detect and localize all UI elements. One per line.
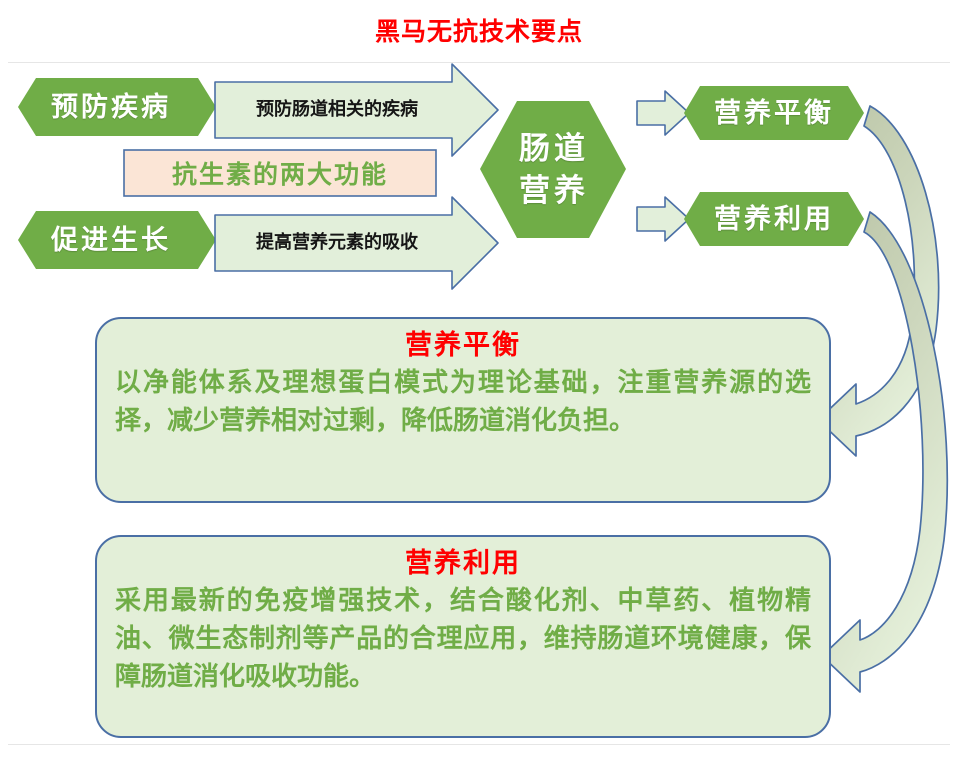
hexagon-nutrition-utilization[interactable] — [684, 192, 864, 246]
slide-canvas: 黑马无抗技术要点 — [0, 0, 958, 757]
panel-nutrition-balance-title: 营养平衡 — [115, 329, 811, 363]
small-arrow-to-nutrition-balance[interactable] — [637, 91, 689, 135]
hexagon-nutrition-balance[interactable] — [684, 86, 864, 140]
hexagon-intestinal-nutrition[interactable] — [480, 101, 626, 238]
panel-nutrition-utilization-title: 营养利用 — [115, 547, 811, 581]
hexagon-promote-growth[interactable] — [18, 211, 216, 269]
small-arrow-to-nutrition-utilization[interactable] — [637, 197, 689, 241]
pink-box-two-functions[interactable] — [124, 150, 436, 196]
panel-nutrition-utilization[interactable]: 营养利用 采用最新的免疫增强技术，结合酸化剂、中草药、植物精油、微生态制剂等产品… — [95, 535, 831, 738]
block-arrow-improve-nutrient-absorption[interactable] — [215, 197, 498, 289]
block-arrow-prevent-intestinal-disease[interactable] — [215, 64, 498, 156]
panel-nutrition-balance-body: 以净能体系及理想蛋白模式为理论基础，注重营养源的选择，减少营养相对过剩，降低肠道… — [115, 364, 811, 440]
hexagon-prevent-disease[interactable] — [18, 78, 216, 136]
panel-nutrition-utilization-body: 采用最新的免疫增强技术，结合酸化剂、中草药、植物精油、微生态制剂等产品的合理应用… — [115, 582, 811, 696]
panel-nutrition-balance[interactable]: 营养平衡 以净能体系及理想蛋白模式为理论基础，注重营养源的选择，减少营养相对过剩… — [95, 317, 831, 503]
